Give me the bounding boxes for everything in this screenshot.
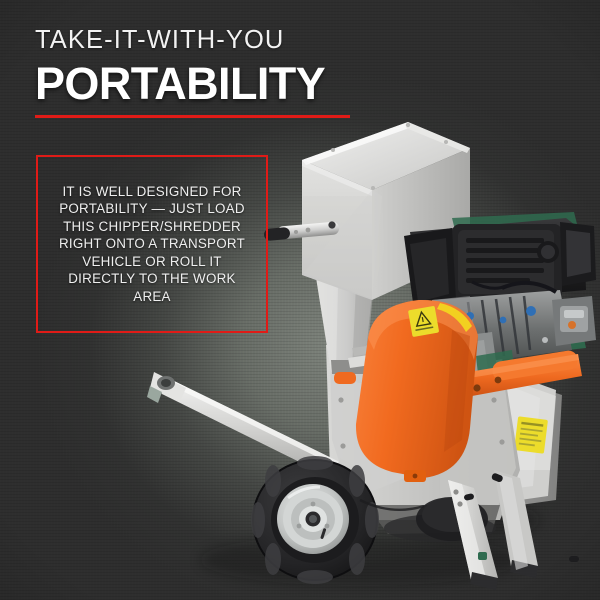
warning-label-chute — [514, 416, 548, 453]
wheel — [251, 456, 379, 584]
belt-cover — [356, 300, 478, 482]
page-title: PORTABILITY — [35, 61, 455, 106]
warning-label-belt — [408, 306, 439, 337]
headline-block: TAKE-IT-WITH-YOU PORTABILITY — [35, 28, 455, 118]
description-text: IT IS WELL DESIGNED FOR PORTABILITY — JU… — [48, 183, 256, 305]
description-box: IT IS WELL DESIGNED FOR PORTABILITY — JU… — [36, 155, 268, 333]
banner-canvas: TAKE-IT-WITH-YOU PORTABILITY IT IS WELL … — [0, 0, 600, 600]
kicker-text: TAKE-IT-WITH-YOU — [35, 28, 455, 54]
title-underline — [35, 115, 350, 118]
